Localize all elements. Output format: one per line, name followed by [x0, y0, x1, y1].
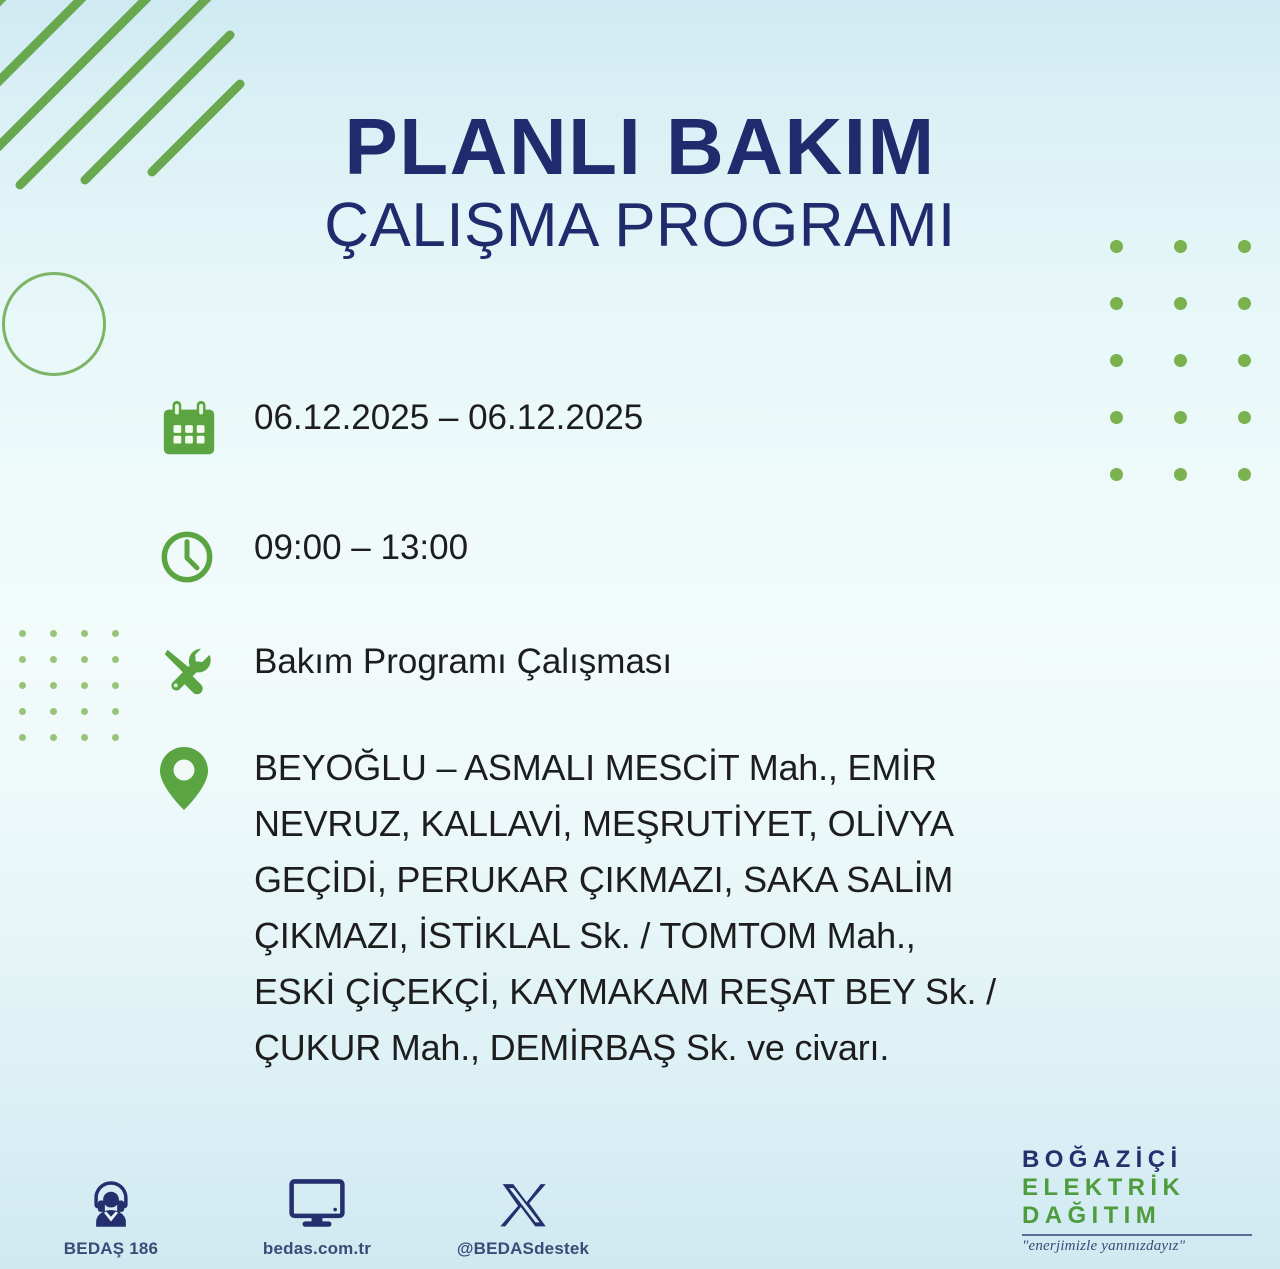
contact-website-label: bedas.com.tr — [242, 1239, 392, 1259]
page-title: PLANLI BAKIM — [0, 104, 1280, 190]
contact-phone[interactable]: BEDAŞ 186 — [36, 1170, 186, 1259]
detail-row-location: BEYOĞLU – ASMALI MESCİT Mah., EMİR NEVRU… — [158, 740, 1058, 1076]
monitor-icon — [242, 1170, 392, 1232]
brand-line-dagitim: DAĞITIM — [1022, 1202, 1252, 1230]
location-line: GEÇİDİ, PERUKAR ÇIKMAZI, SAKA SALİM — [254, 852, 1058, 908]
tools-icon — [158, 640, 254, 700]
location-value: BEYOĞLU – ASMALI MESCİT Mah., EMİR NEVRU… — [254, 740, 1058, 1076]
detail-row-time: 09:00 – 13:00 — [158, 526, 1058, 586]
location-line: ESKİ ÇİÇEKÇİ, KAYMAKAM REŞAT BEY Sk. / — [254, 964, 1058, 1020]
page-subtitle: ÇALIŞMA PROGRAMI — [0, 190, 1280, 262]
detail-row-date: 06.12.2025 – 06.12.2025 — [158, 396, 1058, 460]
maintenance-details: 06.12.2025 – 06.12.2025 09:00 – 13:00 — [158, 396, 1058, 1094]
brand-line-elektrik: ELEKTRİK — [1022, 1174, 1252, 1202]
x-twitter-icon — [448, 1170, 598, 1232]
brand-divider — [1022, 1234, 1252, 1236]
location-line: NEVRUZ, KALLAVİ, MEŞRUTİYET, OLİVYA — [254, 796, 1058, 852]
planned-maintenance-poster: PLANLI BAKIM ÇALIŞMA PROGRAMI — [0, 0, 1280, 1269]
location-line: ÇIKMAZI, İSTİKLAL Sk. / TOMTOM Mah., — [254, 908, 1058, 964]
location-pin-icon — [158, 740, 254, 812]
brand-tagline: "enerjimizle yanınızdayız" — [1022, 1238, 1252, 1255]
contact-twitter-label: @BEDASdestek — [448, 1239, 598, 1259]
contact-channels: BEDAŞ 186 bedas.com.tr — [36, 1170, 598, 1259]
location-line: ÇUKUR Mah., DEMİRBAŞ Sk. ve civarı. — [254, 1020, 1058, 1076]
headset-operator-icon — [36, 1170, 186, 1232]
contact-website[interactable]: bedas.com.tr — [242, 1170, 392, 1259]
clock-icon — [158, 526, 254, 586]
location-line: BEYOĞLU – ASMALI MESCİT Mah., EMİR — [254, 740, 1058, 796]
bedas-logo: BOĞAZİÇİ ELEKTRİK DAĞITIM "enerjimizle y… — [1022, 1146, 1252, 1255]
detail-row-work-type: Bakım Programı Çalışması — [158, 640, 1058, 700]
work-type-value: Bakım Programı Çalışması — [254, 640, 1058, 684]
poster-footer: BEDAŞ 186 bedas.com.tr — [0, 1119, 1280, 1269]
brand-line-bogazici: BOĞAZİÇİ — [1022, 1146, 1252, 1174]
dot-grid-decoration-right — [1110, 240, 1280, 525]
calendar-icon — [158, 396, 254, 460]
date-range-value: 06.12.2025 – 06.12.2025 — [254, 396, 1058, 440]
dot-grid-decoration-left — [0, 630, 143, 760]
contact-phone-label: BEDAŞ 186 — [36, 1239, 186, 1259]
circle-outline-decoration — [2, 272, 106, 376]
poster-header: PLANLI BAKIM ÇALIŞMA PROGRAMI — [0, 104, 1280, 262]
time-range-value: 09:00 – 13:00 — [254, 526, 1058, 570]
contact-twitter[interactable]: @BEDASdestek — [448, 1170, 598, 1259]
